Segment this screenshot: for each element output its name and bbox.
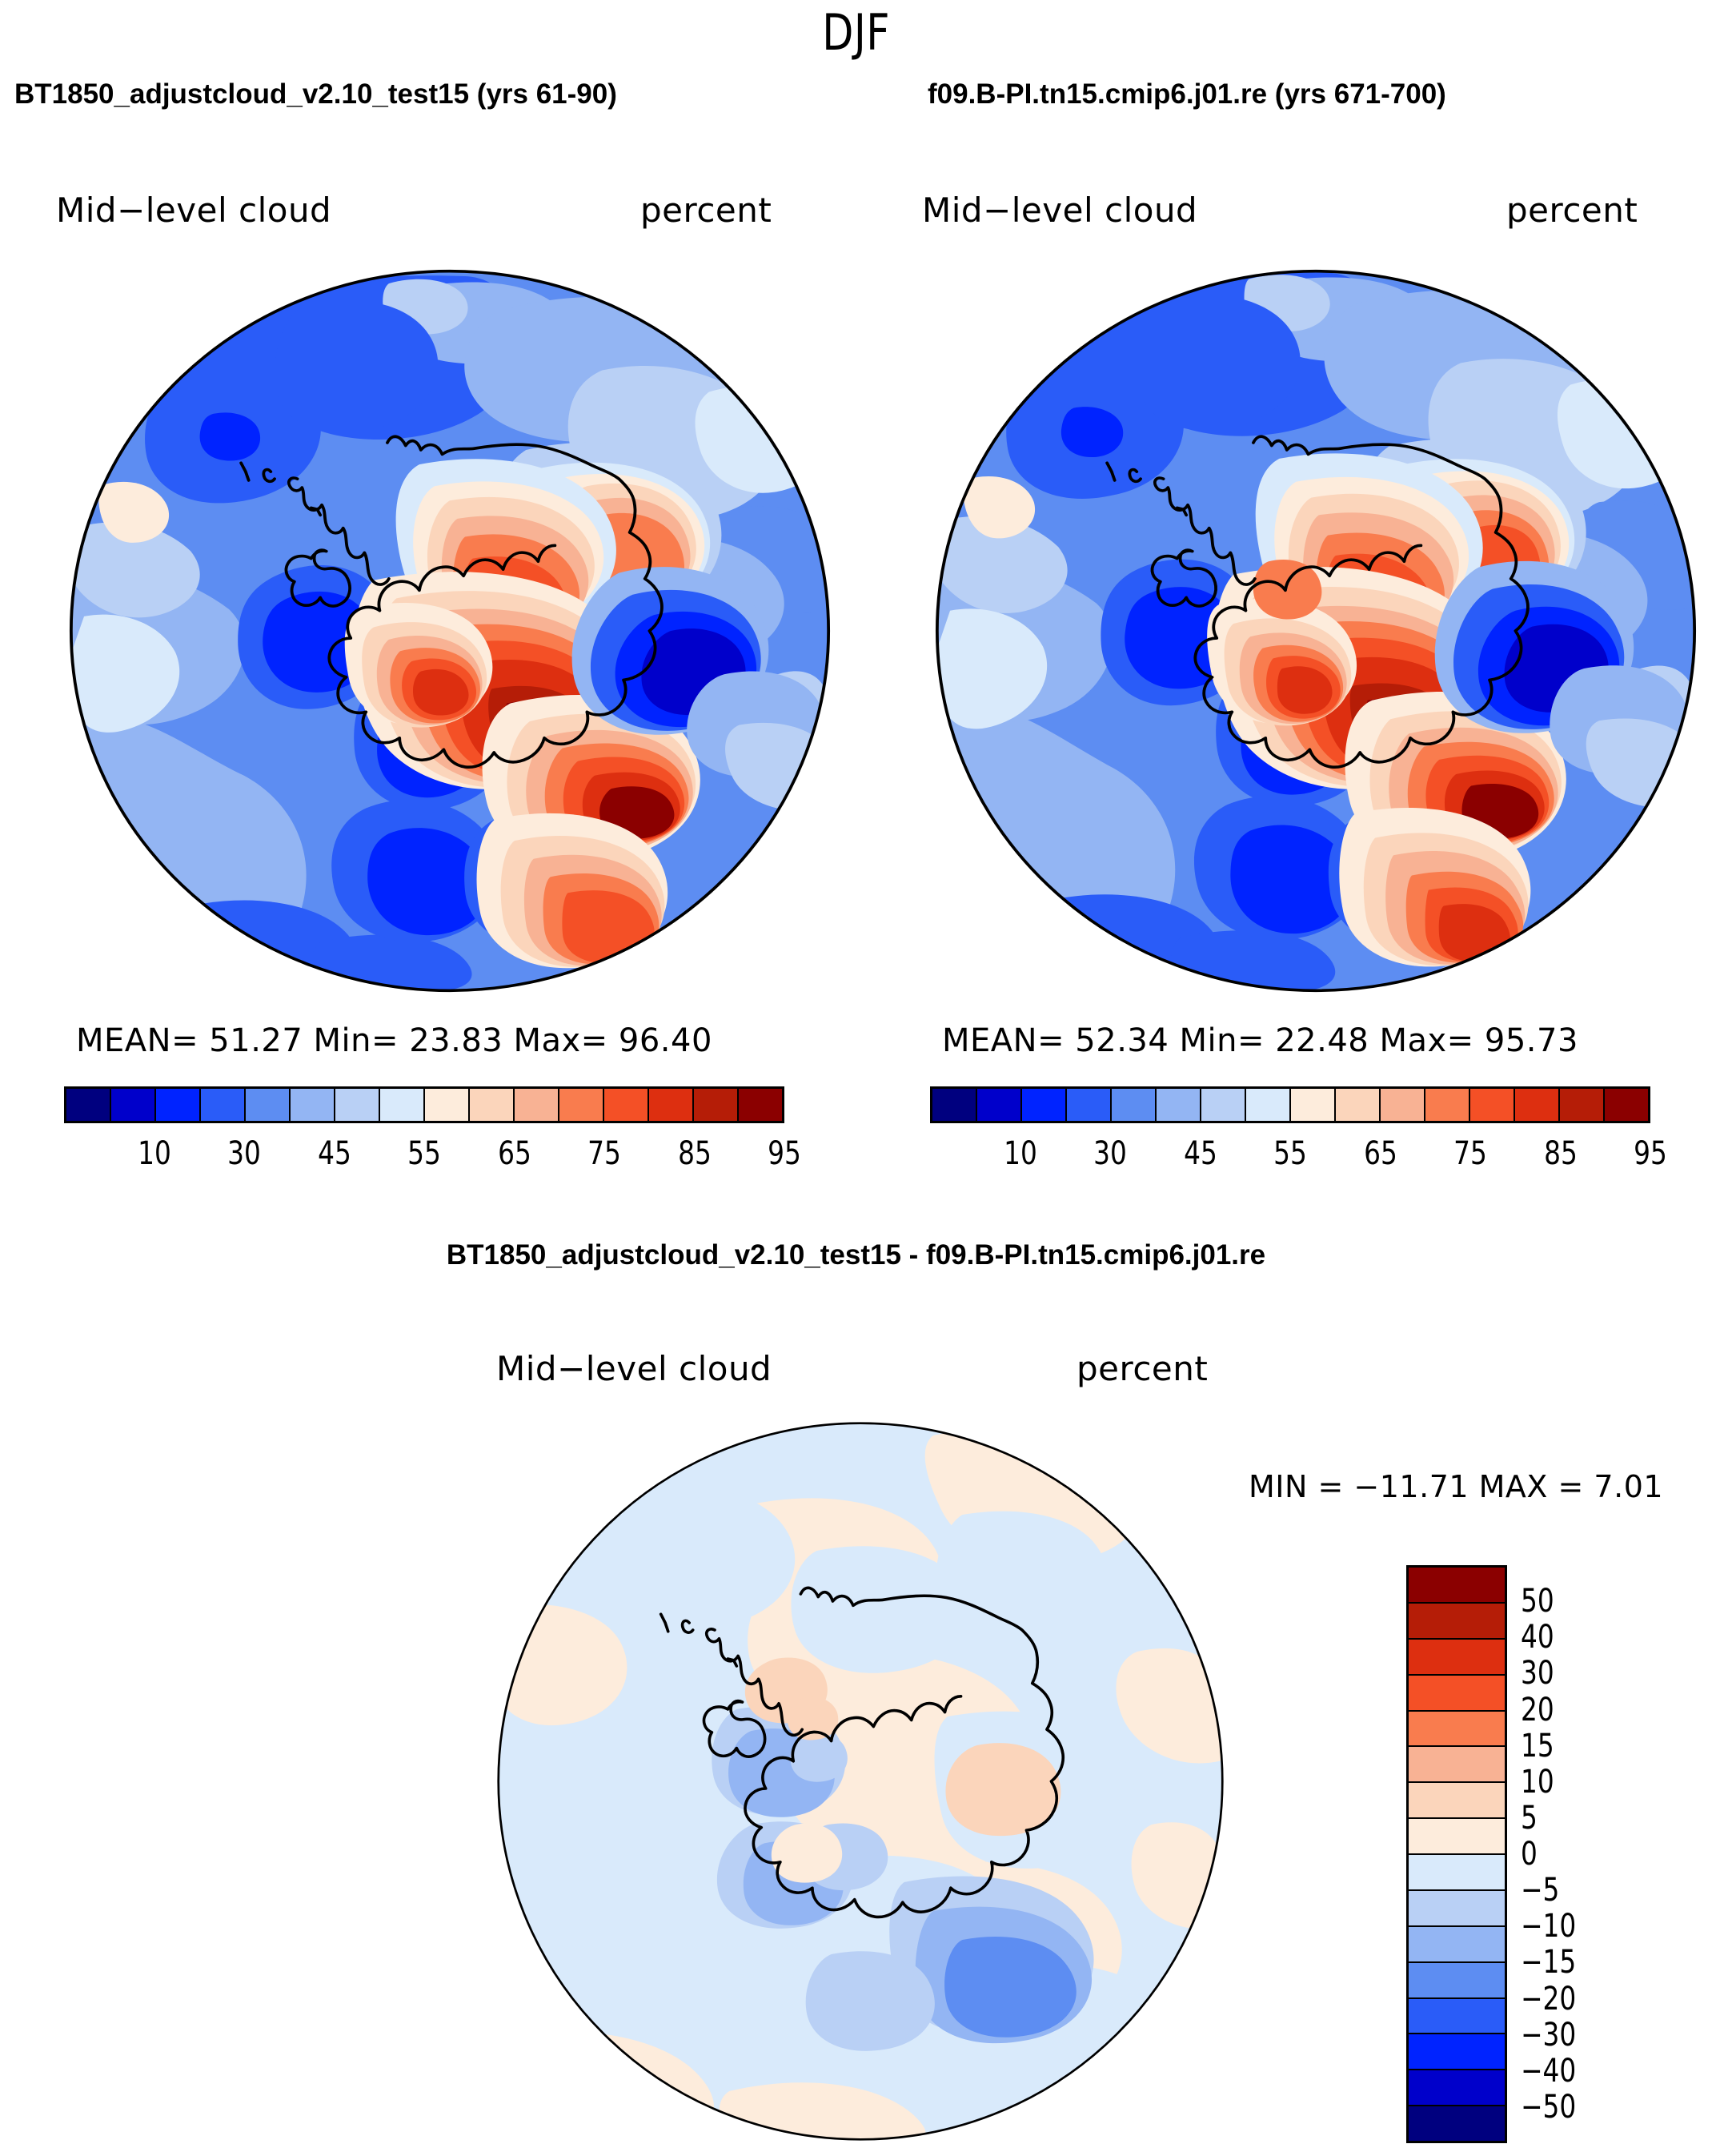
colorbar-segment <box>1409 1963 1505 1999</box>
colorbar-segment <box>1246 1089 1291 1121</box>
colorbar-segment <box>1409 1712 1505 1748</box>
colorbar-segment <box>1425 1089 1470 1121</box>
colorbar-segment <box>1409 2070 1505 2106</box>
colorbar-tick-label: −5 <box>1521 1872 1559 1909</box>
colorbar-segment <box>1409 1783 1505 1819</box>
colorbar-tick-label: 50 <box>1521 1583 1554 1620</box>
colorbar-segment <box>1605 1089 1648 1121</box>
colorbar-segment <box>1409 1819 1505 1855</box>
colorbar-tick-label: 30 <box>1093 1135 1127 1172</box>
left-stats-line: MEAN= 51.27 Min= 23.83 Max= 96.40 <box>76 1022 712 1059</box>
colorbar-tick-label: 30 <box>227 1135 261 1172</box>
colorbar-segment <box>1409 1640 1505 1676</box>
left-panel-title-text: BT1850_adjustcloud_v2.10_test15 (yrs 61-… <box>14 78 617 110</box>
colorbar-tick-label: 85 <box>1544 1135 1578 1172</box>
colorbar-segment <box>739 1089 782 1121</box>
right-colorbar-labels: 1030455565758595 <box>930 1135 1650 1170</box>
colorbar-tick-label: 5 <box>1521 1800 1538 1837</box>
colorbar-segment <box>470 1089 515 1121</box>
colorbar-segment <box>649 1089 694 1121</box>
colorbar-tick-label: 10 <box>1521 1764 1554 1801</box>
colorbar-segment <box>977 1089 1022 1121</box>
colorbar-segment <box>604 1089 649 1121</box>
colorbar-tick-label: 0 <box>1521 1836 1538 1873</box>
diff-panel-title: BT1850_adjustcloud_v2.10_test15 - f09.B-… <box>0 1239 1712 1271</box>
right-units-label-text: percent <box>1506 191 1638 230</box>
colorbar-segment <box>1409 1891 1505 1927</box>
colorbar-segment <box>1336 1089 1381 1121</box>
right-units-label: percent <box>1506 191 1638 230</box>
colorbar-segment <box>1381 1089 1425 1121</box>
right-map-globe <box>935 269 1697 993</box>
colorbar-tick-label: 55 <box>1273 1135 1307 1172</box>
colorbar-segment <box>1470 1089 1515 1121</box>
colorbar-tick-label: 55 <box>407 1135 441 1172</box>
left-units-label-text: percent <box>640 191 772 230</box>
right-colorbar <box>930 1086 1650 1123</box>
right-panel-title-text: f09.B-PI.tn15.cmip6.j01.re (yrs 671-700) <box>928 78 1446 110</box>
colorbar-tick-label: 20 <box>1521 1692 1554 1728</box>
colorbar-tick-label: 45 <box>318 1135 351 1172</box>
left-units-label: percent <box>640 191 772 230</box>
colorbar-segment <box>1112 1089 1157 1121</box>
colorbar-tick-label: 95 <box>768 1135 801 1172</box>
right-variable-label-text: Mid−level cloud <box>922 191 1197 230</box>
colorbar-tick-label: −50 <box>1521 2089 1576 2126</box>
colorbar-tick-label: −15 <box>1521 1944 1576 1981</box>
diff-map-contours <box>496 1421 1225 2142</box>
colorbar-tick-label: 15 <box>1521 1728 1554 1765</box>
diff-units-label: percent <box>1077 1349 1208 1388</box>
colorbar-segment <box>335 1089 380 1121</box>
left-colorbar <box>64 1086 784 1123</box>
colorbar-segment <box>1409 1676 1505 1712</box>
colorbar-segment <box>380 1089 425 1121</box>
colorbar-segment <box>515 1089 559 1121</box>
colorbar-tick-label: −30 <box>1521 2017 1576 2054</box>
colorbar-segment <box>1560 1089 1605 1121</box>
colorbar-segment <box>1409 1568 1505 1604</box>
colorbar-segment <box>1409 1604 1505 1640</box>
colorbar-segment <box>1409 2034 1505 2070</box>
diff-variable-label-text: Mid−level cloud <box>496 1349 772 1388</box>
colorbar-tick-label: 10 <box>138 1135 171 1172</box>
diff-panel-title-text: BT1850_adjustcloud_v2.10_test15 - f09.B-… <box>447 1239 1265 1271</box>
diff-units-label-text: percent <box>1077 1349 1208 1388</box>
colorbar-tick-label: −10 <box>1521 1908 1576 1945</box>
colorbar-tick-label: 45 <box>1184 1135 1217 1172</box>
diff-variable-label: Mid−level cloud <box>496 1349 772 1388</box>
colorbar-tick-label: 10 <box>1004 1135 1037 1172</box>
colorbar-segment <box>156 1089 201 1121</box>
colorbar-segment <box>201 1089 246 1121</box>
left-panel-title: BT1850_adjustcloud_v2.10_test15 (yrs 61-… <box>14 78 617 110</box>
diff-colorbar <box>1406 1565 1507 2143</box>
colorbar-segment <box>1409 1855 1505 1891</box>
season-title-text: DJF <box>822 3 890 62</box>
colorbar-segment <box>694 1089 739 1121</box>
colorbar-segment <box>1022 1089 1067 1121</box>
right-stats-line: MEAN= 52.34 Min= 22.48 Max= 95.73 <box>942 1022 1578 1059</box>
colorbar-segment <box>111 1089 156 1121</box>
colorbar-tick-label: −20 <box>1521 1981 1576 2017</box>
colorbar-tick-label: 85 <box>678 1135 712 1172</box>
colorbar-segment <box>1291 1089 1336 1121</box>
colorbar-segment <box>1157 1089 1201 1121</box>
right-variable-label: Mid−level cloud <box>922 191 1197 230</box>
right-panel-title: f09.B-PI.tn15.cmip6.j01.re (yrs 671-700) <box>928 78 1446 110</box>
left-colorbar-labels: 1030455565758595 <box>64 1135 784 1170</box>
left-map-globe <box>69 269 831 993</box>
diff-minmax-line: MIN = −11.71 MAX = 7.01 <box>1249 1469 1663 1504</box>
colorbar-tick-label: 75 <box>1453 1135 1487 1172</box>
colorbar-tick-label: 65 <box>1364 1135 1397 1172</box>
colorbar-segment <box>66 1089 111 1121</box>
diff-minmax-text: MIN = −11.71 MAX = 7.01 <box>1249 1469 1663 1504</box>
colorbar-segment <box>1409 2106 1505 2141</box>
colorbar-segment <box>246 1089 291 1121</box>
colorbar-tick-label: −40 <box>1521 2053 1576 2090</box>
colorbar-segment <box>291 1089 335 1121</box>
colorbar-tick-label: 65 <box>498 1135 531 1172</box>
colorbar-segment <box>1409 1747 1505 1783</box>
right-stats-text: MEAN= 52.34 Min= 22.48 Max= 95.73 <box>942 1022 1578 1059</box>
colorbar-tick-label: 95 <box>1634 1135 1667 1172</box>
colorbar-segment <box>425 1089 470 1121</box>
left-map-contours <box>69 269 831 993</box>
left-stats-text: MEAN= 51.27 Min= 23.83 Max= 96.40 <box>76 1022 712 1059</box>
colorbar-segment <box>1515 1089 1560 1121</box>
colorbar-tick-label: 30 <box>1521 1655 1554 1692</box>
left-variable-label: Mid−level cloud <box>56 191 331 230</box>
season-title: DJF <box>0 3 1712 62</box>
colorbar-segment <box>1409 1927 1505 1963</box>
colorbar-segment <box>559 1089 604 1121</box>
colorbar-segment <box>1409 1999 1505 2035</box>
diff-colorbar-labels: 50403020151050−5−10−15−20−30−40−50 <box>1521 1565 1665 2143</box>
colorbar-segment <box>1067 1089 1112 1121</box>
colorbar-tick-label: 40 <box>1521 1619 1554 1656</box>
colorbar-tick-label: 75 <box>587 1135 621 1172</box>
right-map-contours <box>935 269 1697 993</box>
colorbar-segment <box>1201 1089 1246 1121</box>
left-variable-label-text: Mid−level cloud <box>56 191 331 230</box>
colorbar-segment <box>932 1089 977 1121</box>
diff-map-globe <box>496 1421 1225 2142</box>
